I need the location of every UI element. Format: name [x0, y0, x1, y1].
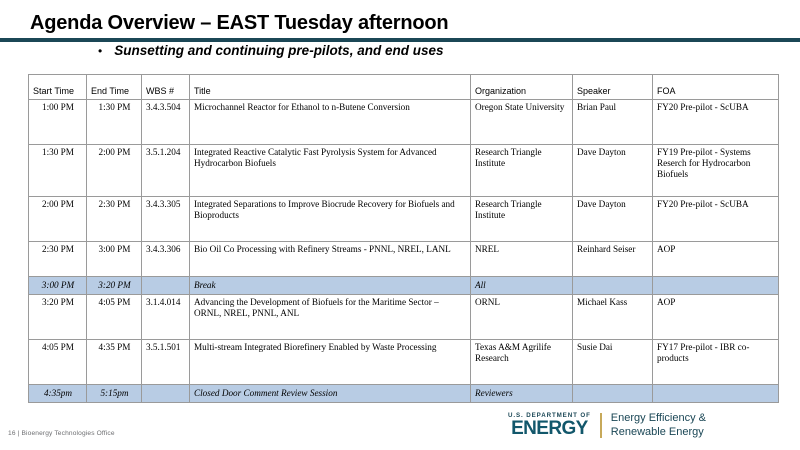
- cell-start-time: 1:30 PM: [29, 145, 87, 197]
- cell-speaker: [573, 277, 653, 295]
- cell-end-time: 3:00 PM: [87, 242, 142, 277]
- cell-organization: ORNL: [471, 295, 573, 340]
- bullet-icon: •: [98, 45, 102, 57]
- cell-wbs: [142, 385, 190, 403]
- table-row: 1:30 PM2:00 PM3.5.1.204Integrated Reacti…: [29, 145, 779, 197]
- cell-end-time: 4:05 PM: [87, 295, 142, 340]
- cell-foa: FY19 Pre-pilot - Systems Reserch for Hyd…: [653, 145, 779, 197]
- cell-wbs: 3.4.3.305: [142, 197, 190, 242]
- table-row: 1:00 PM1:30 PM3.4.3.504Microchannel Reac…: [29, 100, 779, 145]
- column-header-organization: Organization: [471, 75, 573, 100]
- eere-tagline-line2: Renewable Energy: [611, 426, 706, 440]
- table-row: 3:20 PM4:05 PM3.1.4.014Advancing the Dev…: [29, 295, 779, 340]
- cell-organization: Texas A&M Agrilife Research: [471, 340, 573, 385]
- table-row: 3:00 PM3:20 PMBreakAll: [29, 277, 779, 295]
- cell-title: Integrated Separations to Improve Biocru…: [190, 197, 471, 242]
- cell-start-time: 2:30 PM: [29, 242, 87, 277]
- cell-title: Closed Door Comment Review Session: [190, 385, 471, 403]
- cell-organization: Reviewers: [471, 385, 573, 403]
- cell-start-time: 4:35pm: [29, 385, 87, 403]
- cell-speaker: Reinhard Seiser: [573, 242, 653, 277]
- cell-organization: Research Triangle Institute: [471, 145, 573, 197]
- cell-title: Advancing the Development of Biofuels fo…: [190, 295, 471, 340]
- subtitle-text: Sunsetting and continuing pre-pilots, an…: [114, 43, 443, 58]
- doe-energy-wordmark: ENERGY: [511, 420, 588, 438]
- column-header-end-time: End Time: [87, 75, 142, 100]
- cell-foa: FY17 Pre-pilot - IBR co-products: [653, 340, 779, 385]
- cell-organization: NREL: [471, 242, 573, 277]
- column-header-speaker: Speaker: [573, 75, 653, 100]
- table-row: 4:05 PM4:35 PM3.5.1.501Multi-stream Inte…: [29, 340, 779, 385]
- cell-wbs: 3.4.3.306: [142, 242, 190, 277]
- cell-foa: FY20 Pre-pilot - ScUBA: [653, 197, 779, 242]
- cell-end-time: 3:20 PM: [87, 277, 142, 295]
- cell-speaker: [573, 385, 653, 403]
- cell-organization: All: [471, 277, 573, 295]
- cell-foa: AOP: [653, 295, 779, 340]
- agenda-table-container: Start Time End Time WBS # Title Organiza…: [28, 74, 778, 403]
- footer-page-label: 16 | Bioenergy Technologies Office: [8, 430, 115, 437]
- cell-wbs: 3.1.4.014: [142, 295, 190, 340]
- cell-speaker: Dave Dayton: [573, 145, 653, 197]
- table-header-row: Start Time End Time WBS # Title Organiza…: [29, 75, 779, 100]
- cell-foa: AOP: [653, 242, 779, 277]
- cell-start-time: 4:05 PM: [29, 340, 87, 385]
- cell-start-time: 3:20 PM: [29, 295, 87, 340]
- page-title: Agenda Overview – EAST Tuesday afternoon: [30, 12, 448, 35]
- agenda-table-body: 1:00 PM1:30 PM3.4.3.504Microchannel Reac…: [29, 100, 779, 403]
- table-row: 2:00 PM2:30 PM3.4.3.305Integrated Separa…: [29, 197, 779, 242]
- cell-title: Microchannel Reactor for Ethanol to n-Bu…: [190, 100, 471, 145]
- cell-wbs: 3.5.1.501: [142, 340, 190, 385]
- cell-wbs: [142, 277, 190, 295]
- cell-wbs: 3.5.1.204: [142, 145, 190, 197]
- cell-speaker: Brian Paul: [573, 100, 653, 145]
- cell-start-time: 3:00 PM: [29, 277, 87, 295]
- cell-title: Integrated Reactive Catalytic Fast Pyrol…: [190, 145, 471, 197]
- cell-wbs: 3.4.3.504: [142, 100, 190, 145]
- cell-foa: [653, 277, 779, 295]
- cell-end-time: 5:15pm: [87, 385, 142, 403]
- cell-end-time: 2:30 PM: [87, 197, 142, 242]
- cell-foa: [653, 385, 779, 403]
- cell-start-time: 1:00 PM: [29, 100, 87, 145]
- column-header-foa: FOA: [653, 75, 779, 100]
- cell-speaker: Michael Kass: [573, 295, 653, 340]
- cell-title: Multi-stream Integrated Biorefinery Enab…: [190, 340, 471, 385]
- cell-title: Bio Oil Co Processing with Refinery Stre…: [190, 242, 471, 277]
- logo-divider: [600, 413, 602, 438]
- column-header-wbs: WBS #: [142, 75, 190, 100]
- table-row: 2:30 PM3:00 PM3.4.3.306Bio Oil Co Proces…: [29, 242, 779, 277]
- subtitle: • Sunsetting and continuing pre-pilots, …: [98, 43, 443, 58]
- cell-foa: FY20 Pre-pilot - ScUBA: [653, 100, 779, 145]
- cell-organization: Oregon State University: [471, 100, 573, 145]
- eere-tagline: Energy Efficiency & Renewable Energy: [611, 412, 706, 439]
- cell-speaker: Dave Dayton: [573, 197, 653, 242]
- column-header-start-time: Start Time: [29, 75, 87, 100]
- table-row: 4:35pm5:15pmClosed Door Comment Review S…: [29, 385, 779, 403]
- agenda-table: Start Time End Time WBS # Title Organiza…: [28, 74, 779, 403]
- doe-eere-logo: U.S. DEPARTMENT OF ENERGY Energy Efficie…: [508, 412, 706, 439]
- cell-start-time: 2:00 PM: [29, 197, 87, 242]
- cell-end-time: 2:00 PM: [87, 145, 142, 197]
- cell-title: Break: [190, 277, 471, 295]
- column-header-title: Title: [190, 75, 471, 100]
- cell-speaker: Susie Dai: [573, 340, 653, 385]
- cell-end-time: 4:35 PM: [87, 340, 142, 385]
- eere-tagline-line1: Energy Efficiency &: [611, 412, 706, 426]
- cell-end-time: 1:30 PM: [87, 100, 142, 145]
- doe-logo-left: U.S. DEPARTMENT OF ENERGY: [508, 412, 600, 439]
- title-divider: [0, 38, 800, 42]
- cell-organization: Research Triangle Institute: [471, 197, 573, 242]
